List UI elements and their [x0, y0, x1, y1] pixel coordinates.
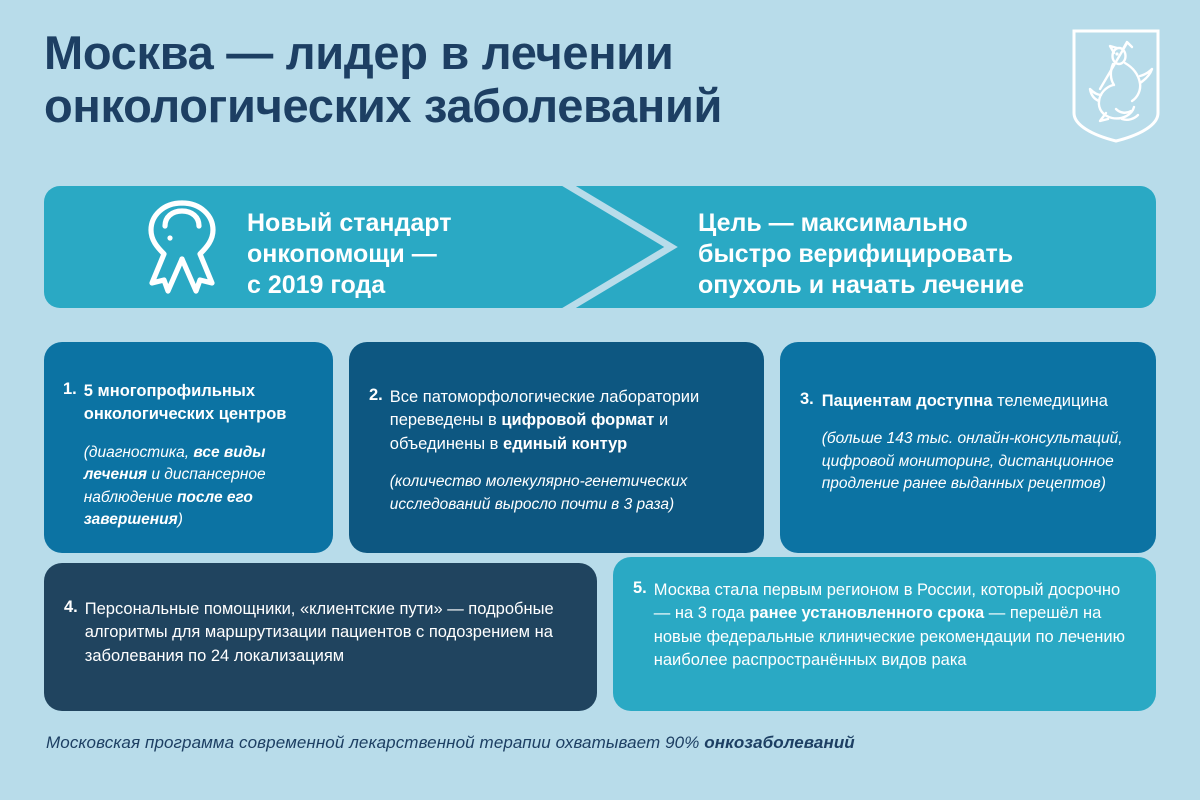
moscow-coat-of-arms-logo	[1070, 27, 1162, 145]
fact-card-5: 5. Москва стала первым регионом в России…	[613, 557, 1156, 711]
card-lead: Пациентам доступна телемедицина	[822, 390, 1136, 413]
card-number: 5.	[633, 579, 647, 598]
chevron-right-divider-icon	[549, 186, 719, 308]
card-lead: 5 многопрофильных онкологических центров	[84, 380, 313, 427]
card-note: (диагностика, все виды лечения и диспанс…	[84, 442, 313, 532]
banner-right-text: Цель — максимально быстро верифицировать…	[698, 208, 1024, 301]
footer-note: Московская программа современной лекарст…	[46, 733, 1156, 753]
card-lead: Все патоморфологические лаборатории пере…	[390, 386, 744, 456]
card-number: 2.	[369, 386, 383, 405]
fact-card-3: 3. Пациентам доступна телемедицина (боль…	[780, 342, 1156, 553]
card-number: 3.	[800, 390, 814, 409]
fact-card-4: 4. Персональные помощники, «клиентские п…	[44, 563, 597, 711]
page-title: Москва — лидер в лечении онкологических …	[44, 26, 1054, 132]
highlight-banner: Новый стандарт онкопомощи — с 2019 года …	[44, 186, 1156, 308]
fact-card-1: 1. 5 многопрофильных онкологических цент…	[44, 342, 333, 553]
card-number: 4.	[64, 598, 78, 617]
card-number: 1.	[63, 380, 77, 399]
banner-left-text: Новый стандарт онкопомощи — с 2019 года	[247, 208, 451, 301]
header: Москва — лидер в лечении онкологических …	[44, 26, 1054, 132]
infographic-page: Москва — лидер в лечении онкологических …	[0, 0, 1200, 800]
card-note: (количество молекулярно-генетических исс…	[390, 471, 744, 516]
awareness-ribbon-icon	[130, 193, 234, 301]
card-lead: Москва стала первым регионом в России, к…	[654, 579, 1138, 673]
fact-card-2: 2. Все патоморфологические лаборатории п…	[349, 342, 764, 553]
card-note: (больше 143 тыс. онлайн-консультаций, ци…	[822, 428, 1136, 495]
card-lead: Персональные помощники, «клиентские пути…	[85, 598, 579, 668]
